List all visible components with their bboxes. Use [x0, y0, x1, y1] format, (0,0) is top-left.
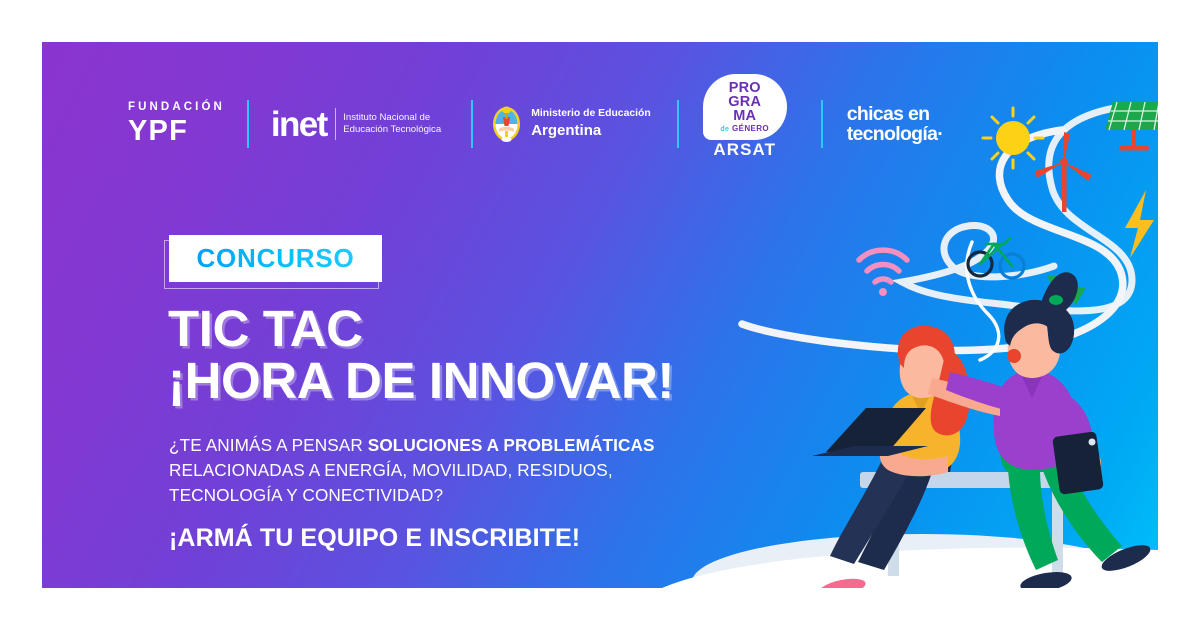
wifi-icon: [859, 250, 907, 296]
body-bold: SOLUCIONES A PROBLEMÁTICAS: [368, 435, 655, 455]
arsat-badge-de: de: [720, 126, 729, 133]
arsat-badge-line3: MA: [733, 109, 756, 123]
logo-divider-3: [677, 100, 679, 148]
logo-ministerio: Ministerio de Educación Argentina: [491, 105, 651, 143]
headline-line2: ¡HORA DE INNOVAR!: [168, 356, 674, 406]
arsat-badge-line2: GRA: [728, 95, 761, 109]
ministerio-line2: Argentina: [531, 122, 651, 140]
banner-stage: FUNDACIÓN YPF inet Instituto Nacional de…: [0, 0, 1200, 628]
arsat-badge-genero: de GÉNERO: [720, 124, 769, 133]
body-rest: RELACIONADAS A ENERGÍA, MOVILIDAD, RESID…: [169, 460, 613, 505]
arsat-badge: PRO GRA MA de GÉNERO: [703, 74, 787, 140]
concurso-label: CONCURSO: [196, 243, 354, 274]
ministerio-text: Ministerio de Educación Argentina: [531, 108, 651, 139]
arsat-wordmark: ARSAT: [697, 140, 793, 160]
cta-text: ¡ARMÁ TU EQUIPO E INSCRIBITE!: [169, 524, 580, 553]
promo-banner: FUNDACIÓN YPF inet Instituto Nacional de…: [42, 42, 1158, 588]
concurso-badge: CONCURSO: [169, 235, 382, 282]
sun-icon: [983, 108, 1043, 168]
arsat-badge-genero-text: GÉNERO: [732, 124, 769, 133]
argentina-coat-of-arms-icon: [491, 105, 522, 143]
ministerio-line1: Ministerio de Educación: [531, 108, 651, 120]
logo-fundacion-ypf: FUNDACIÓN YPF: [128, 102, 225, 146]
logo-bar: FUNDACIÓN YPF inet Instituto Nacional de…: [128, 94, 943, 154]
inet-subtitle: Instituto Nacional de Educación Tecnológ…: [343, 112, 441, 137]
logo-chicas-en-tecnologia: chicas en tecnología·: [847, 104, 943, 145]
chicas-line1: chicas en: [847, 103, 930, 125]
body-copy: ¿TE ANIMÁS A PENSAR SOLUCIONES A PROBLEM…: [169, 433, 689, 507]
page-title: TIC TAC ¡HORA DE INNOVAR!: [168, 304, 674, 407]
logo-arsat: PRO GRA MA de GÉNERO ARSAT: [697, 82, 793, 166]
inet-rule: [335, 108, 337, 140]
ypf-line2: YPF: [128, 117, 225, 146]
ypf-line1: FUNDACIÓN: [128, 102, 225, 114]
inet-wordmark: inet: [271, 107, 327, 142]
chicas-line2: tecnología·: [847, 123, 943, 145]
headline-line1: TIC TAC: [168, 300, 363, 357]
body-lead: ¿TE ANIMÁS A PENSAR: [169, 435, 368, 455]
inet-sub-line2: Educación Tecnológica: [343, 124, 441, 135]
logo-divider-2: [471, 100, 473, 148]
wind-turbine-icon: [1035, 132, 1092, 212]
inet-sub-line1: Instituto Nacional de: [343, 112, 430, 123]
logo-divider-1: [247, 100, 249, 148]
solar-panel-icon: [1105, 102, 1158, 151]
logo-divider-4: [821, 100, 823, 148]
arsat-badge-line1: PRO: [729, 81, 761, 95]
logo-inet: inet Instituto Nacional de Educación Tec…: [271, 107, 441, 142]
